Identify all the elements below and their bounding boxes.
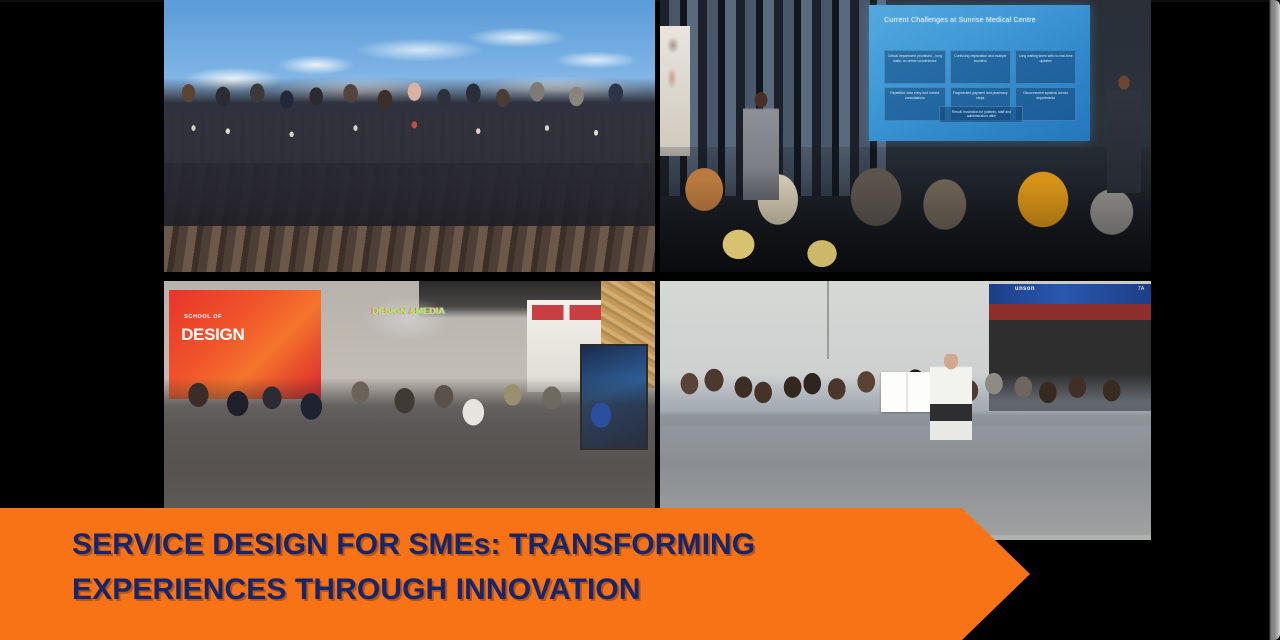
projected-logo-text: DESIGN &MEDIA (372, 307, 445, 316)
certificate-recipient (930, 354, 972, 440)
led-wall-line-1: SCHOOL OF (184, 314, 222, 320)
shop-brand-text: unson (1015, 286, 1035, 292)
projected-slide-box: Repetitive data entry and rushed consult… (884, 87, 945, 121)
drain-pipe (827, 281, 829, 359)
projected-slide-title: Current Challenges at Sunrise Medical Ce… (884, 16, 1072, 25)
projected-slide-box: Long waiting times with no real-time upd… (1015, 50, 1076, 84)
projected-logo: DESIGN &MEDIA (365, 297, 448, 341)
shop-signboard: unson 7A (989, 284, 1151, 305)
banquet-chairs (660, 180, 1151, 272)
photo-rooftop-group (164, 0, 655, 272)
photo-certificate-handover: unson 7A (660, 281, 1151, 540)
photo-rooftop-group-content (164, 0, 655, 272)
standing-participant (1107, 73, 1141, 193)
certificate-folder (881, 372, 933, 412)
projected-slide-box: Critical department prioritised – long w… (884, 50, 945, 84)
projected-slide-box: Confusing registration and multiple coun… (950, 50, 1011, 84)
page-title: SERVICE DESIGN FOR SMEs: TRANSFORMING EX… (72, 522, 912, 612)
projected-slide-result: Result: frustration for patients, staff … (939, 106, 1023, 123)
booth-banner (532, 305, 601, 320)
projected-slide: Current Challenges at Sunrise Medical Ce… (869, 5, 1090, 141)
lanyard-badges (164, 68, 655, 226)
title-banner: SERVICE DESIGN FOR SMEs: TRANSFORMING EX… (0, 508, 1030, 640)
photo-certificate-content: unson 7A (660, 281, 1151, 540)
slide-frame-right-edge (1269, 0, 1280, 640)
photo-design-media-expo: SCHOOL OF DESIGN &MEDIA DESIGN &MEDIA (164, 281, 655, 513)
expo-visitors (164, 369, 655, 513)
flipchart-marks (662, 34, 684, 114)
presenter-with-microphone (743, 90, 779, 200)
photo-expo-content: SCHOOL OF DESIGN &MEDIA DESIGN &MEDIA (164, 281, 655, 513)
shop-unit-number: 7A (1138, 286, 1145, 292)
photo-workshop-content: Current Challenges at Sunrise Medical Ce… (660, 0, 1151, 272)
photo-workshop-presentation: Current Challenges at Sunrise Medical Ce… (660, 0, 1151, 272)
presentation-slide: Current Challenges at Sunrise Medical Ce… (0, 0, 1280, 640)
led-wall-line-2: DESIGN (181, 327, 244, 343)
projected-slide-box: Disconnected systems across departments (1015, 87, 1076, 121)
